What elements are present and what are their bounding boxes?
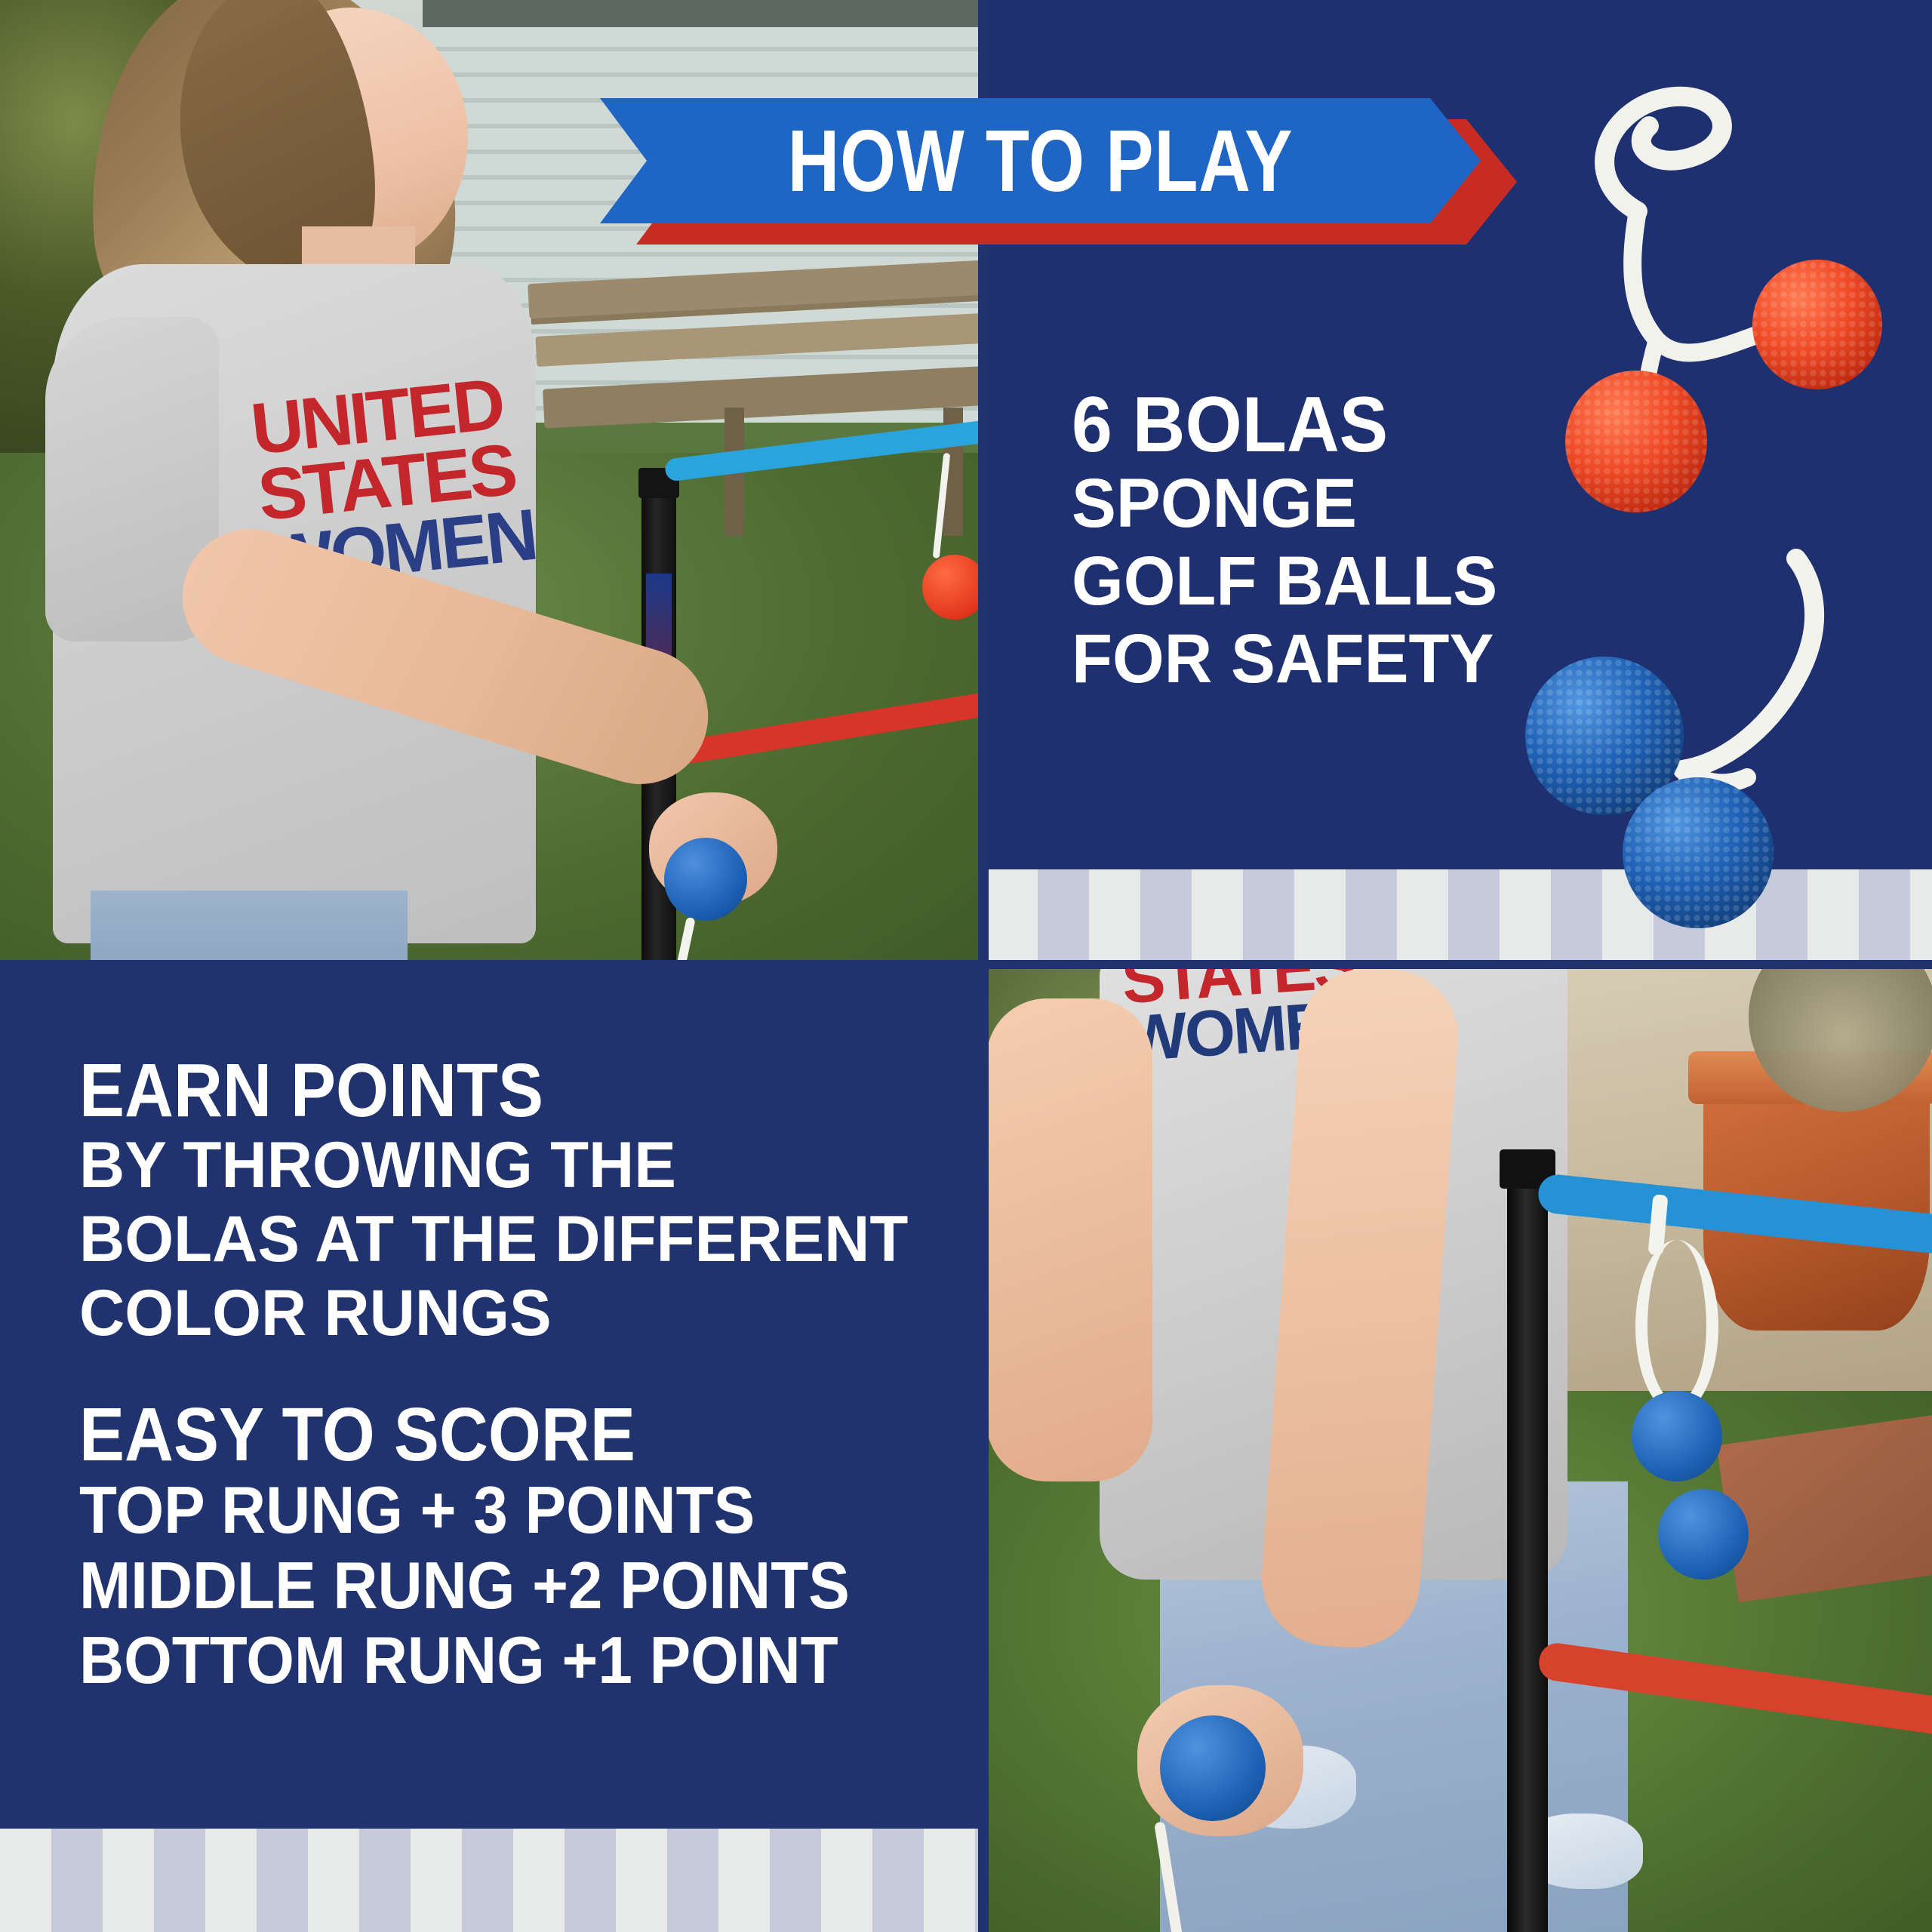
photo-bottom-right: STATES WOMEN xyxy=(986,968,1932,1932)
infographic-page: UNITED STATES WOMEN 6 BOLAS SPONGE GOLF … xyxy=(0,0,1932,1932)
panel-divider-horizontal xyxy=(0,960,989,971)
blue-bola-ball-hanging xyxy=(1632,1391,1722,1481)
red-bola-ball xyxy=(922,555,986,620)
how-to-play-banner: HOW TO PLAY xyxy=(600,98,1517,241)
tshirt-line-2: WOMEN xyxy=(1124,998,1324,1069)
rules-heading-2: EASY TO SCORE xyxy=(79,1397,860,1472)
section-spacer xyxy=(79,1350,947,1397)
photo-bottom-right-backdrop: STATES WOMEN xyxy=(986,968,1932,1932)
stripe-pattern xyxy=(0,1829,986,1932)
rules-body-1-line-2: BOLAS AT THE DIFFERENT xyxy=(79,1202,921,1276)
blue-bola-graphic xyxy=(1457,521,1932,951)
rules-body-1-line-1: BY THROWING THE xyxy=(79,1128,921,1202)
bola-cord-loop xyxy=(1635,1240,1718,1414)
ladder-toss-post xyxy=(1507,1157,1548,1932)
roof-eave xyxy=(423,0,986,27)
rules-heading-1: EARN POINTS xyxy=(79,1053,860,1128)
banner-title: HOW TO PLAY xyxy=(679,98,1401,223)
blue-bola-ball-hanging xyxy=(1658,1489,1749,1580)
girl-left-arm xyxy=(986,998,1152,1481)
score-line-bottom-rung: BOTTOM RUNG +1 POINT xyxy=(79,1623,887,1697)
rules-text-block: EARN POINTS BY THROWING THE BOLAS AT THE… xyxy=(79,1053,947,1697)
blue-bola-ball-in-hand xyxy=(664,838,747,921)
rules-body-1-line-3: COLOR RUNGS xyxy=(79,1276,921,1350)
score-line-top-rung: TOP RUNG + 3 POINTS xyxy=(79,1472,887,1547)
red-bola-graphic xyxy=(1494,64,1932,532)
blue-bola-ball-in-hand xyxy=(1160,1715,1266,1821)
score-line-middle-rung: MIDDLE RUNG +2 POINTS xyxy=(79,1548,887,1623)
stripe-band-bottom-left xyxy=(0,1829,986,1932)
panel-divider-horizontal-right xyxy=(986,960,1932,969)
girl-jeans xyxy=(91,891,408,968)
